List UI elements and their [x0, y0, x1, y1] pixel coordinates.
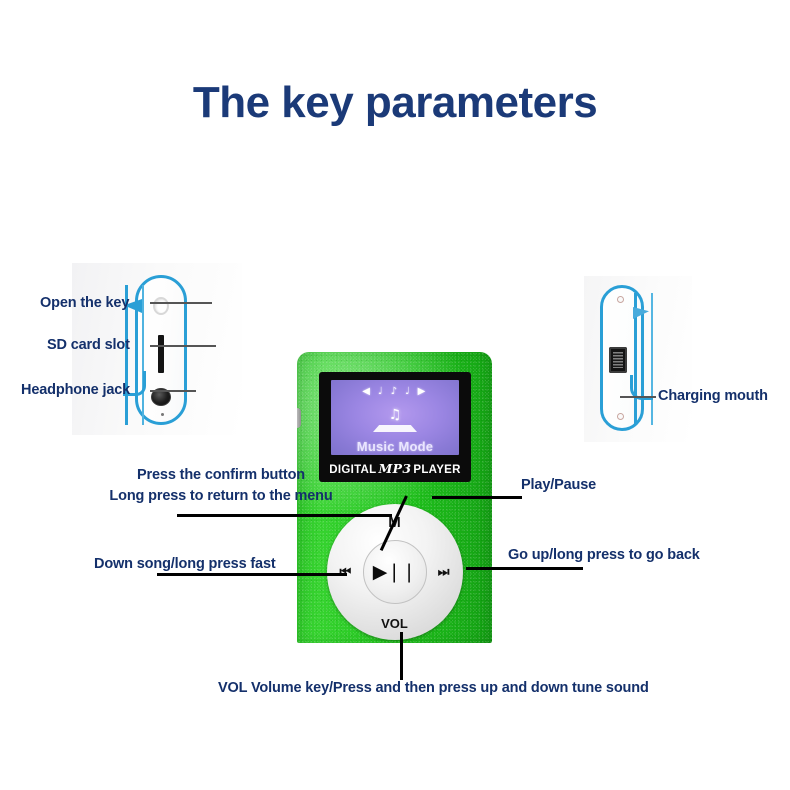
- right-device-side-view: [600, 285, 672, 433]
- label-confirm-line1: Press the confirm button: [76, 465, 366, 486]
- leader-line-volume: [400, 632, 403, 680]
- leader-line-open-key: [150, 302, 212, 304]
- label-go-up: Go up/long press to go back: [508, 546, 700, 565]
- volume-button-label[interactable]: VOL: [381, 616, 408, 631]
- open-key-hole-icon: [153, 297, 169, 315]
- brand-mp3: MP3: [377, 461, 414, 476]
- brand-suffix: PLAYER: [413, 464, 460, 476]
- previous-track-icon[interactable]: ⏮: [340, 564, 352, 580]
- leader-line-down-song: [157, 573, 347, 576]
- lcd-mode-label: Music Mode: [331, 439, 459, 454]
- right-device-photo: [584, 276, 692, 442]
- screw-bottom-icon: [617, 413, 624, 420]
- label-confirm-button: Press the confirm button Long press to r…: [76, 465, 366, 507]
- lcd-screen: ◀ ♩ ♪ ♩ ▶ ♫ Music Mode: [331, 380, 459, 455]
- leader-line-sd-card-slot: [150, 345, 216, 347]
- lcd-topbar-icons: ◀ ♩ ♪ ♩ ▶: [331, 386, 459, 397]
- leader-line-play-pause-horizontal: [432, 496, 522, 499]
- label-open-the-key: Open the key: [40, 294, 129, 313]
- charging-port-icon: [609, 347, 627, 373]
- play-pause-icon[interactable]: ▶❘❘: [373, 561, 416, 583]
- label-charging-mouth: Charging mouth: [658, 387, 768, 406]
- label-sd-card-slot: SD card slot: [47, 336, 130, 355]
- label-confirm-line2: Long press to return to the menu: [76, 486, 366, 507]
- leader-line-confirm-button: [177, 514, 392, 517]
- label-down-song: Down song/long press fast: [94, 555, 276, 574]
- sd-card-slot-icon: [158, 335, 164, 373]
- leader-line-charging-mouth: [620, 396, 656, 398]
- label-play-pause: Play/Pause: [521, 476, 596, 495]
- pedestal-shape: [373, 425, 417, 432]
- side-button-nub[interactable]: [297, 408, 301, 428]
- leader-line-go-up: [466, 567, 583, 570]
- label-volume-key: VOL Volume key/Press and then press up a…: [218, 679, 649, 698]
- label-headphone-jack: Headphone jack: [21, 381, 130, 400]
- left-device-dot: [161, 413, 164, 416]
- music-note-icon: ♫: [331, 407, 459, 423]
- next-track-icon[interactable]: ⏭: [438, 564, 450, 580]
- screw-top-icon: [617, 296, 624, 303]
- page-title: The key parameters: [0, 78, 790, 128]
- center-button[interactable]: ▶❘❘: [363, 540, 427, 604]
- product-diagram-page: The key parameters Open the key SD card …: [0, 0, 790, 790]
- leader-line-headphone-jack: [150, 390, 196, 392]
